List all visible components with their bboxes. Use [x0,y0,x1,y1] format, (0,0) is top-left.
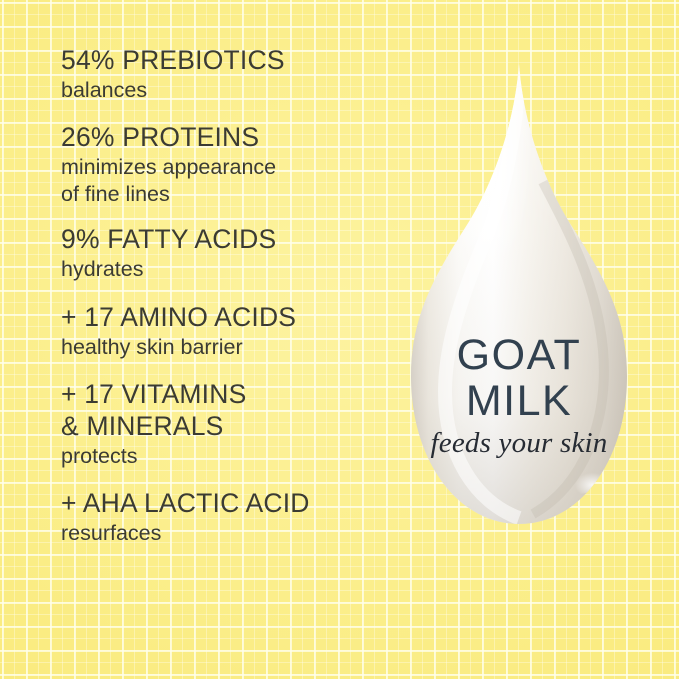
fact-description: healthy skin barrier [61,334,371,360]
fact-description: minimizes appearance of fine lines [61,154,371,207]
fact-description: protects [61,443,371,469]
fact-title: + AHA LACTIC ACID [61,487,371,519]
fact-description: resurfaces [61,520,371,546]
list-item: + 17 AMINO ACIDS healthy skin barrier [61,301,371,361]
list-item: + AHA LACTIC ACID resurfaces [61,487,371,547]
fact-title: + 17 VITAMINS & MINERALS [61,378,371,443]
ingredient-facts-list: 54% PREBIOTICS balances 26% PROTEINS min… [61,44,371,546]
fact-title: + 17 AMINO ACIDS [61,301,371,333]
list-item: + 17 VITAMINS & MINERALS protects [61,378,371,470]
fact-title: 54% PREBIOTICS [61,44,371,76]
list-item: 54% PREBIOTICS balances [61,44,371,104]
list-item: 9% FATTY ACIDS hydrates [61,223,371,283]
milk-droplet-icon [393,62,645,544]
fact-description: balances [61,77,371,103]
milk-droplet-graphic: GOAT MILK feeds your skin [393,62,645,544]
list-item: 26% PROTEINS minimizes appearance of fin… [61,121,371,207]
fact-description: hydrates [61,256,371,282]
goat-milk-ingredient-poster: 54% PREBIOTICS balances 26% PROTEINS min… [0,0,679,679]
fact-title: 9% FATTY ACIDS [61,223,371,255]
fact-title: 26% PROTEINS [61,121,371,153]
